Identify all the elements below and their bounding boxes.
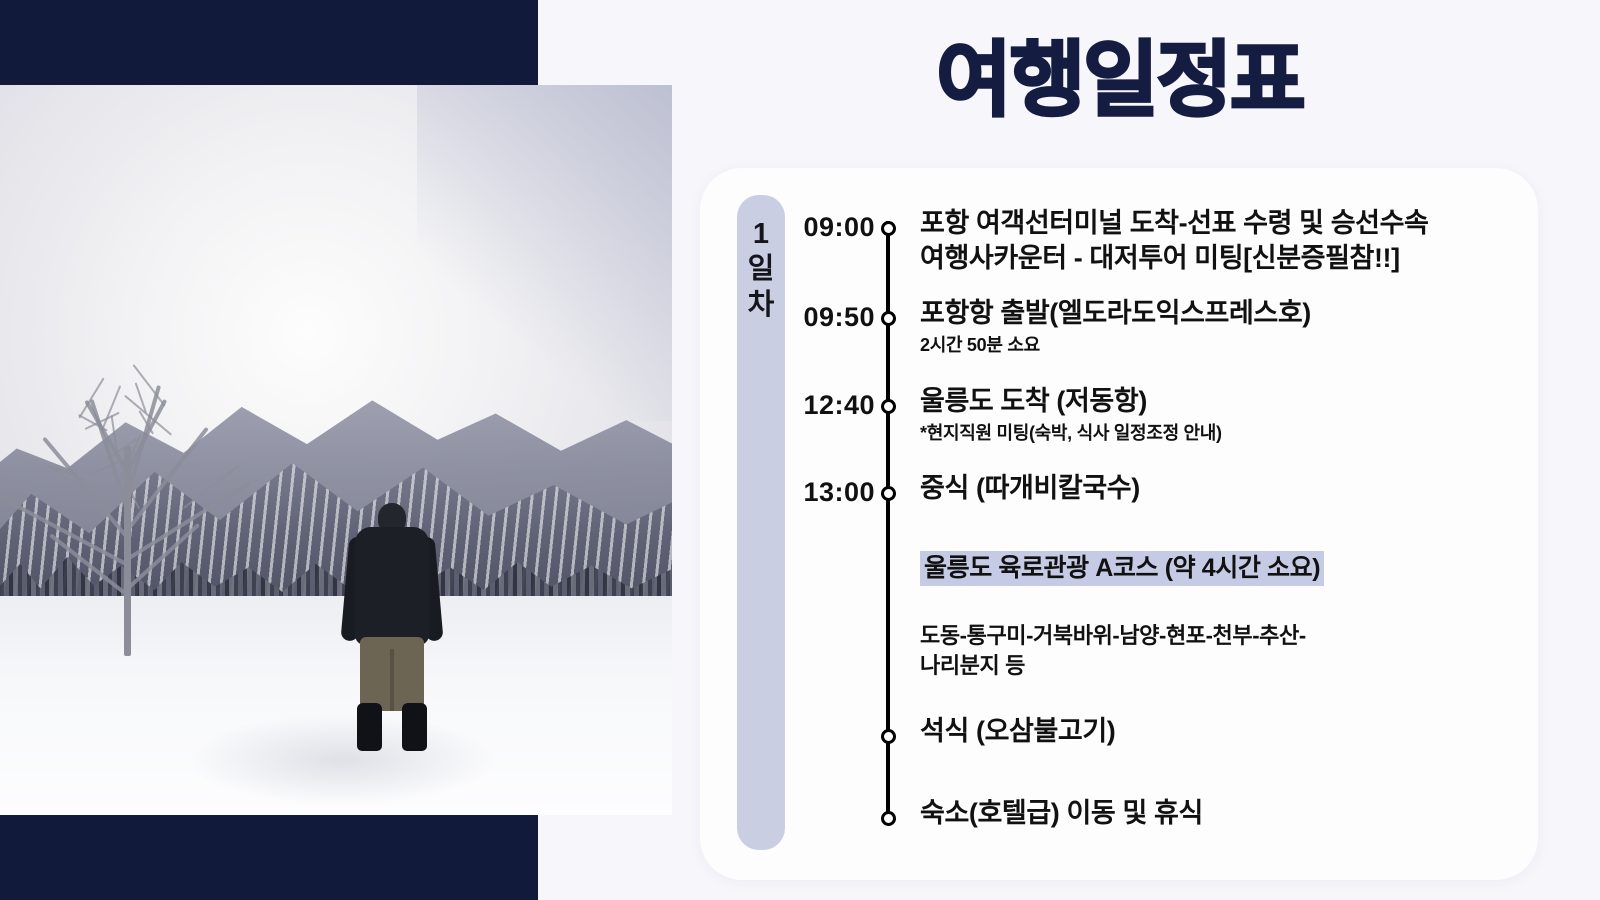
- timeline-content: 울릉도 육로관광 A코스 (약 4시간 소요): [920, 551, 1510, 586]
- course-route-list: 도동-통구미-거북바위-남양-현포-천부-추산- 나리분지 등: [920, 621, 1510, 680]
- timeline-content: 중식 (따개비칼국수): [920, 471, 1510, 506]
- timeline-content: 도동-통구미-거북바위-남양-현포-천부-추산- 나리분지 등: [920, 621, 1510, 680]
- person-boot-left: [357, 703, 382, 751]
- person-boot-right: [402, 703, 427, 751]
- timeline-main-text: 중식 (따개비칼국수): [920, 471, 1510, 506]
- timeline-content: 석식 (오삼불고기): [920, 714, 1510, 749]
- timeline-time: 12:40: [795, 390, 875, 421]
- timeline: 09:00포항 여객선터미널 도착-선표 수령 및 승선수속 여행사카운터 - …: [795, 188, 1510, 862]
- timeline-main-text: 숙소(호텔급) 이동 및 휴식: [920, 796, 1510, 831]
- page-title: 여행일정표: [700, 40, 1540, 122]
- timeline-dot-icon: [881, 221, 896, 236]
- person-pants: [360, 637, 424, 711]
- timeline-dot-icon: [881, 729, 896, 744]
- timeline-time: 13:00: [795, 477, 875, 508]
- winter-photo: [0, 85, 672, 815]
- timeline-main-text: 포항항 출발(엘도라도익스프레스호): [920, 296, 1510, 331]
- timeline-content: 숙소(호텔급) 이동 및 휴식: [920, 796, 1510, 831]
- timeline-sub-text: 2시간 50분 소요: [920, 333, 1510, 357]
- left-visual-panel: [0, 0, 690, 900]
- day-badge-label: 1 일 차: [737, 217, 785, 323]
- highlighted-course-label: 울릉도 육로관광 A코스 (약 4시간 소요): [920, 551, 1324, 586]
- person-coat: [355, 527, 429, 645]
- timeline-main-text: 석식 (오삼불고기): [920, 714, 1510, 749]
- timeline-dot-icon: [881, 486, 896, 501]
- timeline-time: 09:00: [795, 212, 875, 243]
- timeline-content: 포항항 출발(엘도라도익스프레스호)2시간 50분 소요: [920, 296, 1510, 357]
- timeline-dot-icon: [881, 311, 896, 326]
- timeline-main-text: 울릉도 도착 (저동항): [920, 384, 1510, 419]
- photo-person: [349, 503, 435, 753]
- day-badge: 1 일 차: [737, 195, 785, 850]
- schedule-card: 1 일 차 09:00포항 여객선터미널 도착-선표 수령 및 승선수속 여행사…: [700, 168, 1538, 880]
- photo-bare-tree: [13, 326, 243, 656]
- timeline-main-text: 포항 여객선터미널 도착-선표 수령 및 승선수속 여행사카운터 - 대저투어 …: [920, 206, 1510, 276]
- timeline-content: 울릉도 도착 (저동항)*현지직원 미팅(숙박, 식사 일정조정 안내): [920, 384, 1510, 445]
- timeline-dot-icon: [881, 811, 896, 826]
- timeline-content: 포항 여객선터미널 도착-선표 수령 및 승선수속 여행사카운터 - 대저투어 …: [920, 206, 1510, 276]
- timeline-time: 09:50: [795, 302, 875, 333]
- timeline-dot-icon: [881, 399, 896, 414]
- timeline-sub-text: *현지직원 미팅(숙박, 식사 일정조정 안내): [920, 421, 1510, 445]
